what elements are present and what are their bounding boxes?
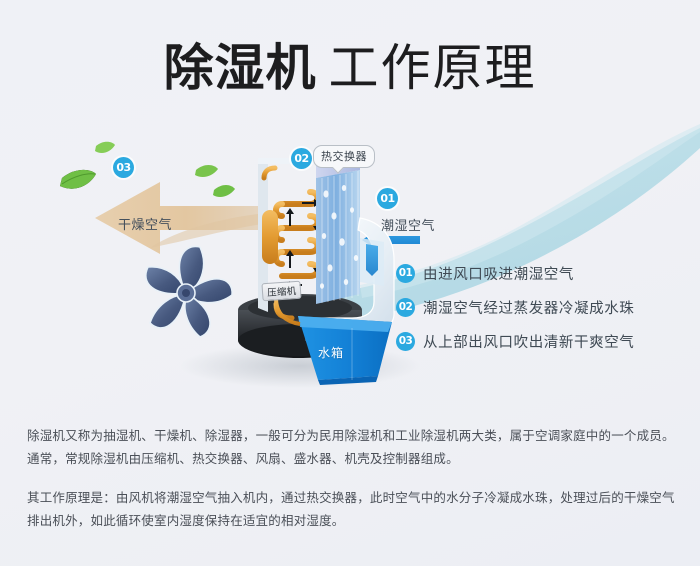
steps-list: 01 由进风口吸进潮湿空气 02 潮湿空气经过蒸发器冷凝成水珠 03 从上部出风…	[396, 256, 686, 358]
step-badge-03: 03	[396, 332, 415, 351]
page-root: 除湿机工作原理	[0, 0, 700, 566]
list-item: 03 从上部出风口吹出清新干爽空气	[396, 324, 686, 358]
paragraph-2: 其工作原理是：由风机将潮湿空气抽入机内，通过热交换器，此时空气中的水分子冷凝成水…	[27, 486, 677, 532]
evaporator-fins	[316, 158, 360, 304]
list-item: 01 由进风口吸进潮湿空气	[396, 256, 686, 290]
paragraph-1: 除湿机又称为抽湿机、干燥机、除湿器，一般可分为民用除湿机和工业除湿机两大类，属于…	[27, 424, 677, 470]
description-block: 除湿机又称为抽湿机、干燥机、除湿器，一般可分为民用除湿机和工业除湿机两大类，属于…	[27, 424, 677, 532]
page-title: 除湿机工作原理	[0, 28, 700, 100]
label-humid-air: 潮湿空气	[381, 215, 435, 234]
step-badge-02: 02	[396, 298, 415, 317]
step-badge-01: 01	[396, 264, 415, 283]
step-text-01: 由进风口吸进潮湿空气	[423, 263, 574, 284]
page-title-primary: 除湿机	[164, 39, 317, 97]
step-text-02: 潮湿空气经过蒸发器冷凝成水珠	[423, 297, 634, 318]
list-item: 02 潮湿空气经过蒸发器冷凝成水珠	[396, 290, 686, 324]
diagram-badge-02: 02	[291, 148, 312, 169]
step-text-03: 从上部出风口吹出清新干爽空气	[423, 331, 634, 352]
label-water-tank: 水箱	[318, 344, 344, 361]
page-title-secondary: 工作原理	[329, 39, 537, 97]
label-heat-exchanger: 热交换器	[313, 145, 375, 168]
label-compressor: 压缩机	[261, 281, 302, 302]
fan-artwork	[146, 246, 232, 337]
label-dry-air: 干燥空气	[118, 214, 172, 233]
diagram-badge-01: 01	[377, 188, 398, 209]
diagram-badge-03: 03	[113, 157, 134, 178]
leaf-group	[60, 142, 235, 197]
